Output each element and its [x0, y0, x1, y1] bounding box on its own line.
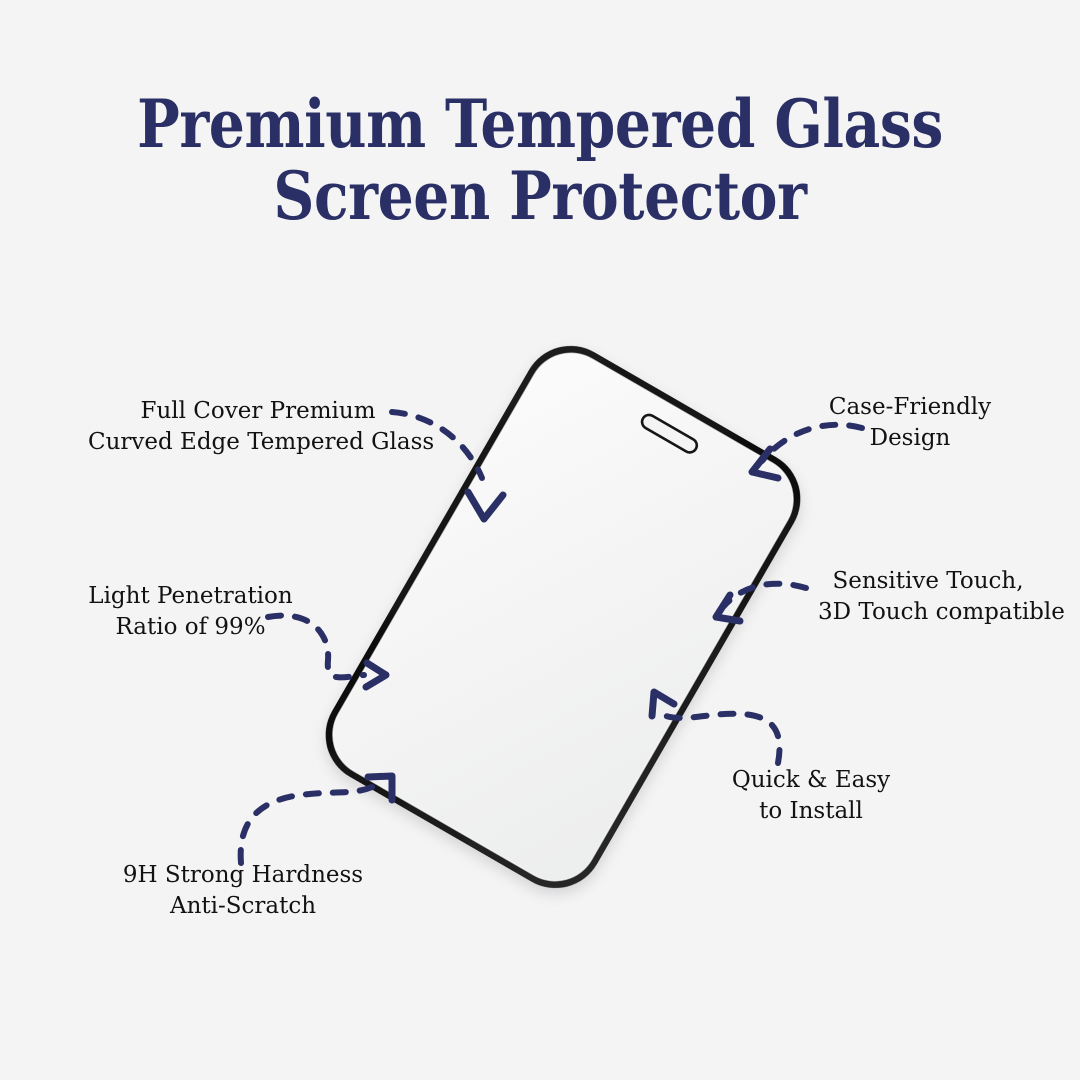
- feature-full-cover-line-2: Curved Edge Tempered Glass: [88, 427, 428, 458]
- feature-quick-easy-line-1: Quick & Easy: [722, 765, 900, 796]
- feature-label-sensitive-touch: Sensitive Touch, 3D Touch compatible: [818, 566, 1038, 628]
- feature-label-quick-easy: Quick & Easy to Install: [722, 765, 900, 827]
- feature-label-hardness: 9H Strong Hardness Anti-Scratch: [112, 860, 374, 922]
- feature-case-friendly-line-2: Design: [824, 423, 996, 454]
- arrow-hardness-icon: [241, 776, 392, 863]
- feature-label-full-cover: Full Cover Premium Curved Edge Tempered …: [88, 396, 428, 458]
- arrow-sensitive-touch-icon: [716, 584, 806, 621]
- page-title-line-1: Premium Tempered Glass: [76, 88, 1005, 160]
- feature-quick-easy-line-2: to Install: [722, 796, 900, 827]
- feature-light-penetration-line-2: Ratio of 99%: [78, 612, 303, 643]
- feature-sensitive-touch-line-1: Sensitive Touch,: [818, 566, 1038, 597]
- page-title-line-2: Screen Protector: [76, 160, 1005, 232]
- feature-label-light-penetration: Light Penetration Ratio of 99%: [78, 581, 303, 643]
- arrow-quick-easy-icon: [652, 692, 780, 763]
- feature-full-cover-line-1: Full Cover Premium: [88, 396, 428, 427]
- feature-case-friendly-line-1: Case-Friendly: [824, 392, 996, 423]
- feature-light-penetration-line-1: Light Penetration: [78, 581, 303, 612]
- speaker-slot-icon: [640, 412, 700, 455]
- page-title: Premium Tempered Glass Screen Protector: [76, 88, 1005, 232]
- feature-hardness-line-2: Anti-Scratch: [112, 891, 374, 922]
- feature-label-case-friendly: Case-Friendly Design: [824, 392, 996, 454]
- product-infographic-canvas: Premium Tempered Glass Screen Protector: [0, 0, 1080, 1080]
- feature-hardness-line-1: 9H Strong Hardness: [112, 860, 374, 891]
- feature-sensitive-touch-line-2: 3D Touch compatible: [818, 597, 1038, 628]
